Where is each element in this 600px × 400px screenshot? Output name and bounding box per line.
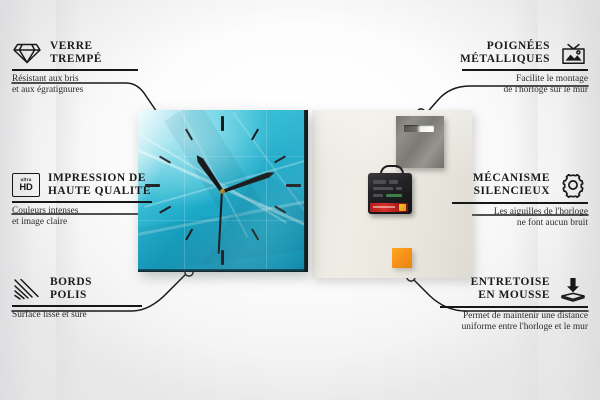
feature-heading: VERRE TREMPÉ	[12, 40, 138, 65]
mechanism-detail	[389, 180, 398, 184]
feature-description: Résistant aux bris et aux égratignures	[12, 74, 138, 97]
mechanism-detail	[396, 187, 402, 190]
diamond-icon	[12, 41, 42, 65]
feature-description: Les aiguilles de l'horloge ne font aucun…	[452, 207, 588, 230]
feature-divider	[12, 69, 138, 71]
feature-divider	[12, 305, 142, 307]
feature-heading: ultra HD IMPRESSION DE HAUTE QUALITÉ	[12, 172, 152, 197]
feature-title: IMPRESSION DE HAUTE QUALITÉ	[48, 172, 151, 197]
polished-edges-icon	[12, 277, 42, 301]
foam-spacer-icon	[558, 276, 588, 302]
feature-bords-polis: BORDS POLIS Surface lisse et sûre	[12, 276, 142, 321]
feature-impression-haute-qualite: ultra HD IMPRESSION DE HAUTE QUALITÉ Cou…	[12, 172, 152, 229]
feature-poignees-metalliques: POIGNÉES MÉTALLIQUES Facilite le montage…	[462, 40, 588, 97]
ultra-hd-icon: ultra HD	[12, 173, 40, 197]
clock-right-edge	[304, 110, 308, 272]
feature-title: POIGNÉES MÉTALLIQUES	[460, 40, 550, 65]
mechanism-body	[368, 173, 412, 214]
feature-title: BORDS POLIS	[50, 276, 92, 301]
metal-hanger-plate	[396, 116, 444, 168]
clock-glass-reflection	[138, 110, 308, 272]
mechanism-detail	[373, 187, 393, 190]
feature-heading: ENTRETOISE EN MOUSSE	[440, 276, 588, 302]
feature-entretoise-en-mousse: ENTRETOISE EN MOUSSE Permet de maintenir…	[440, 276, 588, 333]
mechanism-detail	[373, 180, 386, 184]
picture-hanger-icon	[558, 41, 588, 65]
infographic-canvas: VERRE TREMPÉ Résistant aux bris et aux é…	[0, 0, 600, 400]
feature-divider	[12, 201, 152, 203]
feature-title: ENTRETOISE EN MOUSSE	[471, 276, 550, 301]
clock-mechanism	[368, 170, 412, 214]
feature-title: VERRE TREMPÉ	[50, 40, 102, 65]
feature-heading: BORDS POLIS	[12, 276, 142, 301]
feature-divider	[440, 306, 588, 308]
ultra-hd-icon-bottom-label: HD	[19, 182, 32, 191]
feature-description: Facilite le montage de l'horloge sur le …	[462, 74, 588, 97]
feature-title: MÉCANISME SILENCIEUX	[473, 172, 550, 197]
feature-heading: POIGNÉES MÉTALLIQUES	[462, 40, 588, 65]
mechanism-detail	[373, 194, 383, 197]
feature-heading: MÉCANISME SILENCIEUX	[452, 172, 588, 198]
feature-divider	[452, 202, 588, 204]
feature-description: Permet de maintenir une distance uniform…	[440, 311, 588, 334]
feature-verre-trempe: VERRE TREMPÉ Résistant aux bris et aux é…	[12, 40, 138, 97]
gear-icon	[558, 172, 588, 198]
feature-description: Surface lisse et sûre	[12, 310, 142, 321]
foam-spacer	[392, 248, 412, 268]
hanger-slot	[404, 125, 434, 132]
feature-mecanisme-silencieux: MÉCANISME SILENCIEUX Les aiguilles de l'…	[452, 172, 588, 229]
feature-description: Couleurs intenses et image claire	[12, 206, 152, 229]
mechanism-detail	[386, 194, 402, 197]
mechanism-battery	[370, 203, 408, 212]
feature-divider	[462, 69, 588, 71]
wall-clock	[138, 110, 308, 272]
clock-bottom-edge	[138, 269, 308, 272]
